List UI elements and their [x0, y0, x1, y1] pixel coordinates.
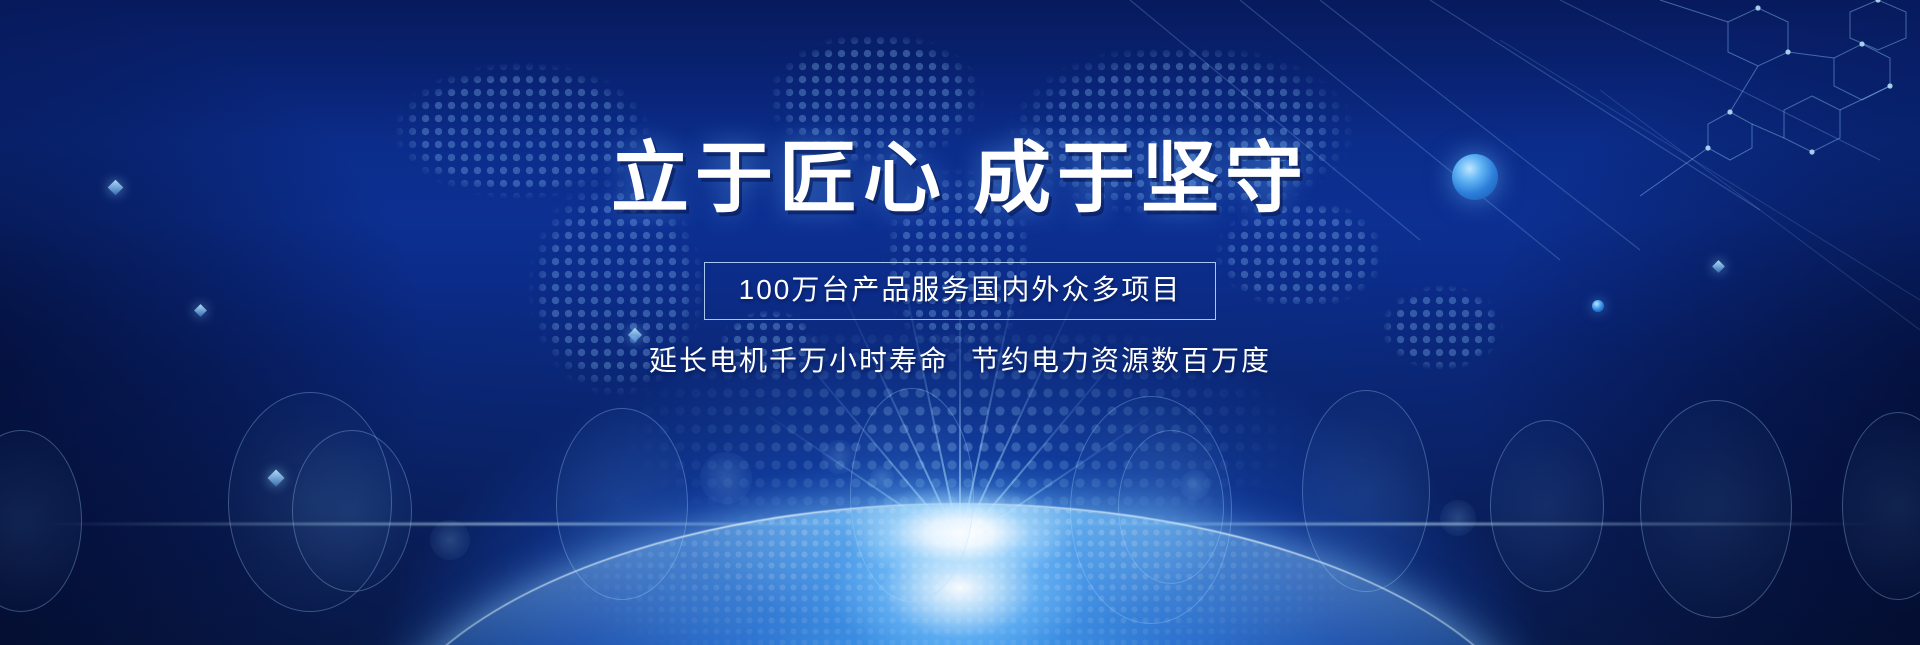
bokeh-circle — [556, 408, 688, 600]
subtitle-row: 100万台产品服务国内外众多项目 — [0, 217, 1920, 320]
hero-banner: 立于匠心成于坚守 100万台产品服务国内外众多项目 延长电机千万小时寿命节约电力… — [0, 0, 1920, 645]
bokeh-soft-circle — [1180, 470, 1210, 500]
bokeh-circle — [1118, 430, 1224, 584]
boxed-subtitle: 100万台产品服务国内外众多项目 — [704, 262, 1217, 320]
tagline-part-1: 延长电机千万小时寿命 — [649, 345, 949, 376]
tagline-part-2: 节约电力资源数百万度 — [971, 345, 1271, 376]
bokeh-circle — [850, 388, 974, 602]
headline-part-2: 成于坚守 — [973, 134, 1309, 222]
bokeh-soft-circle — [822, 440, 856, 474]
headline-part-1: 立于匠心 — [611, 134, 947, 222]
bokeh-soft-circle — [700, 452, 752, 504]
bokeh-soft-circle — [870, 466, 894, 490]
bokeh-soft-circle — [1440, 500, 1476, 536]
bokeh-circle — [1640, 400, 1792, 618]
bokeh-circle — [292, 430, 412, 592]
bokeh-soft-circle — [430, 520, 470, 560]
banner-content: 立于匠心成于坚守 100万台产品服务国内外众多项目 延长电机千万小时寿命节约电力… — [0, 0, 1920, 378]
bokeh-circle — [1302, 390, 1430, 592]
tagline: 延长电机千万小时寿命节约电力资源数百万度 — [0, 344, 1920, 378]
bokeh-circle — [1490, 420, 1604, 592]
page-title: 立于匠心成于坚守 — [0, 0, 1920, 217]
